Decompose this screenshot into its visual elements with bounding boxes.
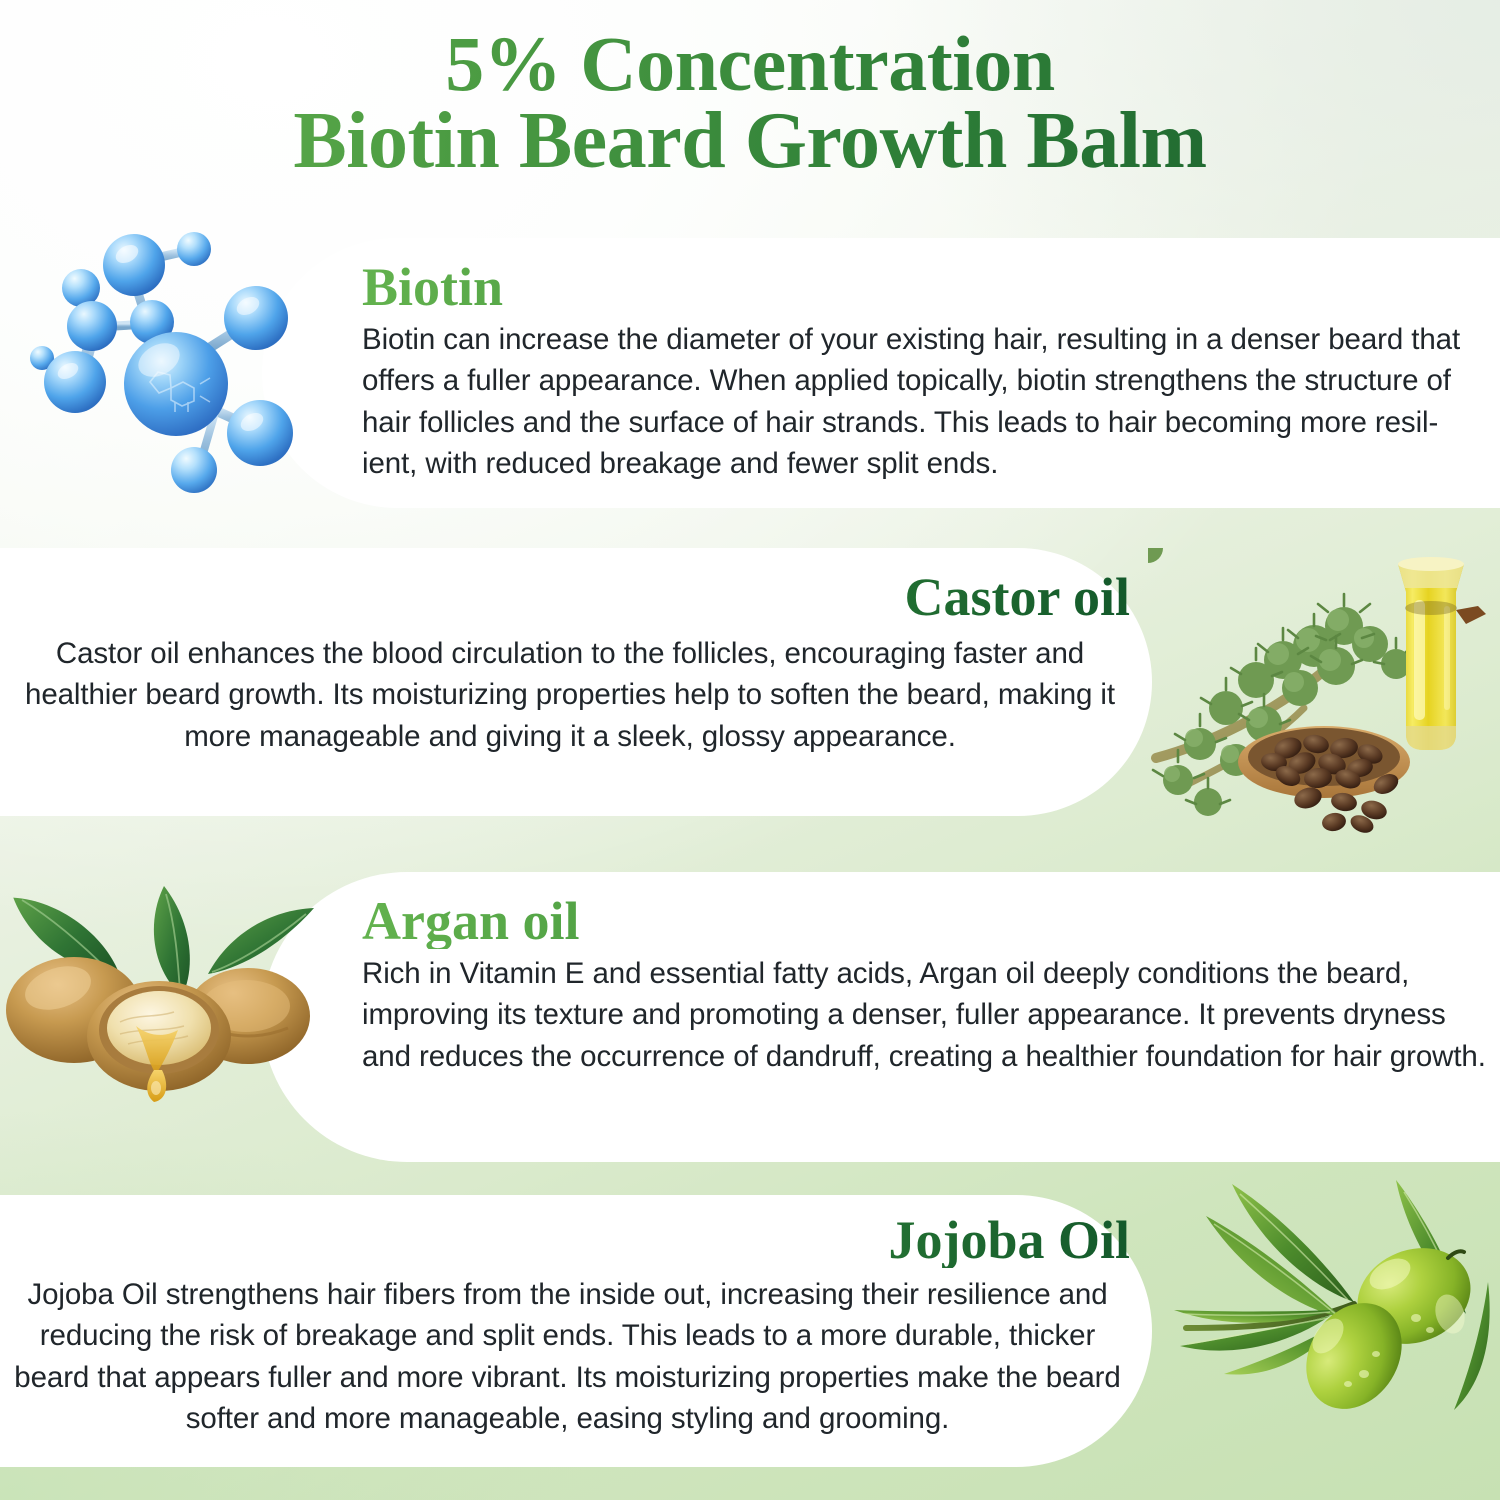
molecule-atom <box>103 234 165 296</box>
molecule-atom <box>224 286 288 350</box>
page-title-line-2: Biotin Beard Growth Balm <box>0 102 1500 180</box>
section-body-argan: Rich in Vitamin E and essential fatty ac… <box>362 953 1492 1077</box>
section-heading-castor: Castor oil <box>10 570 1130 625</box>
card-inner-argan: Argan oil Rich in Vitamin E and essentia… <box>262 872 1500 1162</box>
page-title: 5% Concentration Biotin Beard Growth Bal… <box>0 26 1500 181</box>
section-text-biotin: Biotin Biotin can increase the diameter … <box>362 260 1482 484</box>
argan-oil-icon <box>0 878 326 1130</box>
section-card-jojoba: Jojoba Oil Jojoba Oil strengthens hair f… <box>0 1195 1152 1467</box>
olive-branch-illustration <box>1158 1178 1500 1460</box>
section-text-argan: Argan oil Rich in Vitamin E and essentia… <box>362 894 1492 1077</box>
oil-bottle <box>1396 557 1486 752</box>
castor-plant-and-oil-bottle-illustration <box>1148 548 1500 840</box>
molecule-atom <box>67 301 117 351</box>
molecule-atom <box>44 351 106 413</box>
section-body-jojoba: Jojoba Oil strengthens hair fibers from … <box>5 1274 1130 1439</box>
card-inner-jojoba: Jojoba Oil Jojoba Oil strengthens hair f… <box>0 1195 1152 1467</box>
section-heading-argan: Argan oil <box>362 894 1492 949</box>
argan-nuts-illustration <box>0 878 326 1130</box>
infographic-canvas: 5% Concentration Biotin Beard Growth Bal… <box>0 0 1500 1500</box>
section-card-argan: Argan oil Rich in Vitamin E and essentia… <box>262 872 1500 1162</box>
page-title-line-1: 5% Concentration <box>0 26 1500 102</box>
molecule-icon <box>28 232 328 497</box>
section-text-jojoba: Jojoba Oil Jojoba Oil strengthens hair f… <box>5 1213 1130 1439</box>
card-inner-castor: Castor oil Castor oil enhances the blood… <box>0 548 1152 816</box>
biotin-molecule-illustration <box>28 232 328 497</box>
section-body-biotin: Biotin can increase the diameter of your… <box>362 319 1482 484</box>
section-text-castor: Castor oil Castor oil enhances the blood… <box>10 570 1130 757</box>
section-body-castor: Castor oil enhances the blood circulatio… <box>10 633 1130 757</box>
section-heading-jojoba: Jojoba Oil <box>5 1213 1130 1268</box>
section-card-castor: Castor oil Castor oil enhances the blood… <box>0 548 1152 816</box>
jojoba-olive-icon <box>1158 1178 1500 1460</box>
section-card-biotin: Biotin Biotin can increase the diameter … <box>262 238 1500 508</box>
card-inner-biotin: Biotin Biotin can increase the diameter … <box>262 238 1500 508</box>
molecule-atom <box>177 232 211 266</box>
castor-oil-icon <box>1148 548 1500 840</box>
molecule-atom <box>171 447 217 493</box>
section-heading-biotin: Biotin <box>362 260 1482 315</box>
molecule-atom <box>227 400 293 466</box>
